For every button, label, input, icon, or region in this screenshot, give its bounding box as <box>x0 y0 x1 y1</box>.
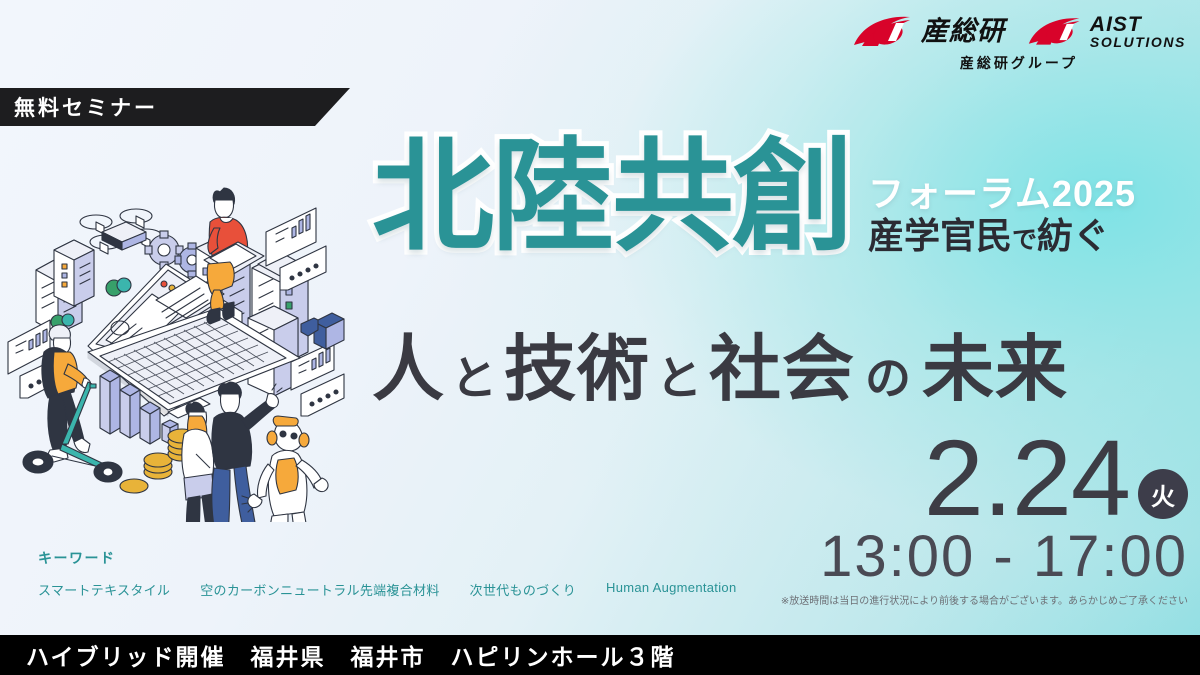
isometric-illustration: .ln{fill:none;stroke:#2f3542;stroke-widt… <box>0 172 386 522</box>
aist-solutions-line1: AIST <box>1090 14 1186 35</box>
keywords-title: キーワード <box>38 548 736 568</box>
subtitle-part1: 産学官民 <box>868 215 1012 256</box>
tagline-word-2: 技術 <box>504 330 650 410</box>
tagline-word-4: 未来 <box>922 330 1068 410</box>
aist-solutions-swoosh-icon <box>1027 16 1083 48</box>
aist-solutions-logo-text: AIST SOLUTIONS <box>1090 14 1186 49</box>
logo-row: 産総研 AIST SOLUTIONS <box>852 14 1186 49</box>
aist-logo-text: 産総研 <box>921 18 1005 45</box>
title-row: 北陸共創 フォーラム2025 産学官民で紡ぐ <box>372 140 1190 256</box>
forum-year: フォーラム2025 <box>868 176 1136 212</box>
robot-illustration <box>242 416 328 522</box>
brand-logo-bar: 産総研 AIST SOLUTIONS 産総研グループ <box>852 14 1186 73</box>
title-side-block: フォーラム2025 産学官民で紡ぐ <box>868 176 1136 254</box>
aist-solutions-line2: SOLUTIONS <box>1090 35 1186 49</box>
tagline-particle-1: と <box>445 352 504 404</box>
tagline: 人と技術と社会の未来 <box>372 334 1068 406</box>
free-seminar-ribbon: 無料セミナー <box>0 88 350 126</box>
venue-bar: ハイブリッド開催 福井県 福井市 ハピリンホール３階 <box>0 635 1200 675</box>
keywords-list: スマートテキスタイル 空のカーボンニュートラル先端複合材料 次世代ものづくり H… <box>38 580 736 599</box>
weekday-badge: 火 <box>1138 469 1188 519</box>
seminar-poster: 産総研 AIST SOLUTIONS 産総研グループ 無料セミナー <box>0 0 1200 675</box>
keyword-item: Human Augmentation <box>606 580 736 599</box>
event-date: 2.24 <box>924 430 1130 525</box>
venue-text: ハイブリッド開催 福井県 福井市 ハピリンホール３階 <box>0 638 676 672</box>
keyword-item: 空のカーボンニュートラル先端複合材料 <box>200 580 439 599</box>
tagline-particle-3: の <box>855 352 922 404</box>
aist-solutions-logo: AIST SOLUTIONS <box>1027 14 1186 49</box>
headline-block: 北陸共創 フォーラム2025 産学官民で紡ぐ <box>372 140 1190 256</box>
tagline-word-3: 社会 <box>709 330 855 410</box>
schedule-note: ※放送時間は当日の進行状況により前後する場合がございます。あらかじめご了承くださ… <box>781 592 1188 607</box>
event-time: 13:00 - 17:00 <box>781 527 1188 588</box>
subtitle-part2: 紡ぐ <box>1037 215 1109 256</box>
subtitle-line: 産学官民で紡ぐ <box>868 218 1136 254</box>
subtitle-particle: で <box>1012 226 1037 254</box>
aist-logo: 産総研 <box>852 15 1005 49</box>
main-title: 北陸共創 <box>372 140 852 256</box>
keyword-item: スマートテキスタイル <box>38 580 170 599</box>
schedule-block: 2.24 火 13:00 - 17:00 ※放送時間は当日の進行状況により前後す… <box>781 430 1188 607</box>
keywords-block: キーワード スマートテキスタイル 空のカーボンニュートラル先端複合材料 次世代も… <box>38 548 736 599</box>
keyword-item: 次世代ものづくり <box>470 580 576 599</box>
tagline-particle-2: と <box>650 352 709 404</box>
date-line: 2.24 火 <box>781 430 1188 525</box>
group-label: 産総研グループ <box>960 53 1078 73</box>
tagline-word-1: 人 <box>372 330 445 410</box>
aist-swoosh-icon <box>852 15 914 49</box>
free-seminar-label: 無料セミナー <box>0 92 158 122</box>
